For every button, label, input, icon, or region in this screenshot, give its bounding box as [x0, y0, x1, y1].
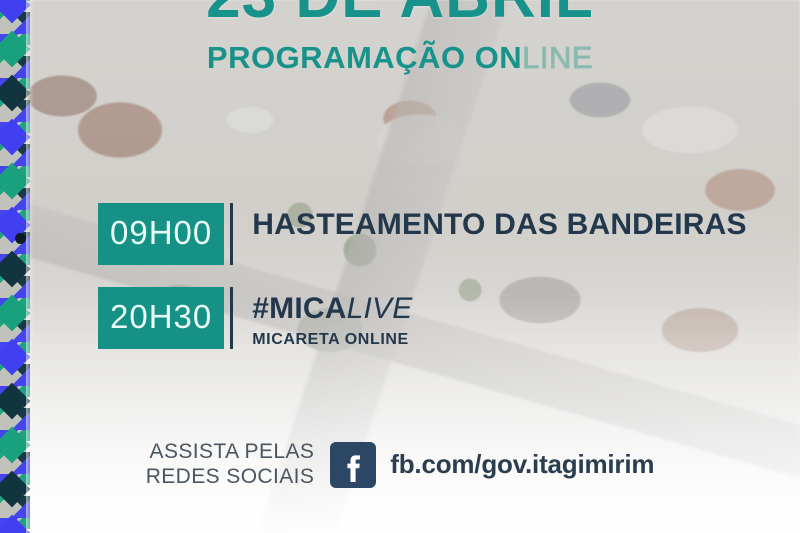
subtitle-bold-part: PROGRAMAÇÃO ON [207, 40, 522, 75]
time-divider [230, 203, 233, 265]
social-cta-text: ASSISTA PELAS REDES SOCIAIS [146, 440, 315, 490]
time-divider [230, 287, 233, 349]
facebook-icon[interactable] [330, 442, 376, 488]
schedule-item: 09H00 HASTEAMENTO DAS BANDEIRAS [98, 203, 747, 265]
social-cta-line1: ASSISTA PELAS [146, 440, 315, 465]
event-poster: 23 DE ABRIL PROGRAMAÇÃO ONLINE 09H00 HAS… [0, 0, 800, 533]
schedule-item: 20H30 #MICALIVE MICARETA ONLINE [98, 287, 747, 349]
social-cta-line2: REDES SOCIAIS [146, 465, 315, 490]
subtitle: PROGRAMAÇÃO ONLINE [0, 42, 800, 73]
event-title-italic: LIVE [347, 292, 413, 325]
event-title: #MICALIVE [252, 293, 412, 325]
schedule-list: 09H00 HASTEAMENTO DAS BANDEIRAS 20H30 #M… [98, 203, 747, 371]
facebook-url[interactable]: fb.com/gov.itagimirim [390, 449, 654, 480]
time-badge: 09H00 [98, 203, 224, 265]
time-badge: 20H30 [98, 287, 224, 349]
footer-social: ASSISTA PELAS REDES SOCIAIS fb.com/gov.i… [0, 440, 800, 490]
event-title-text: HASTEAMENTO DAS BANDEIRAS [252, 208, 746, 241]
event-title-text: #MICA [252, 292, 346, 325]
page-title: 23 DE ABRIL [0, 0, 800, 28]
event-title: HASTEAMENTO DAS BANDEIRAS [252, 209, 746, 241]
subtitle-light-part: LINE [522, 40, 593, 75]
event-subtitle: MICARETA ONLINE [252, 331, 412, 349]
